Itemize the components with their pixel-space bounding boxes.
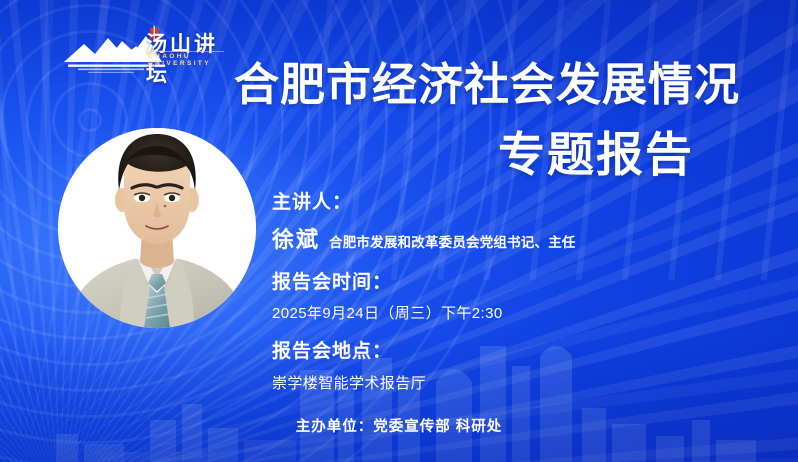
speaker-role: 合肥市发展和改革委员会党组书记、主任 (329, 231, 576, 251)
speaker-portrait-image (58, 128, 256, 328)
event-details: 主讲人： 徐斌 合肥市发展和改革委员会党组书记、主任 报告会时间： 2025年9… (272, 190, 772, 393)
logo-divider (146, 51, 224, 52)
place-label: 报告会地点： (272, 339, 772, 365)
time-label: 报告会时间： (272, 270, 772, 296)
place-value: 崇学楼智能学术报告厅 (272, 372, 772, 393)
speaker-label: 主讲人： (272, 190, 772, 216)
event-poster: 汤山讲坛 CHAOHU UNIVERSITY (0, 0, 798, 462)
poster-title-line-2: 专题报告 (498, 131, 778, 178)
chaohu-university-logo: 汤山讲坛 CHAOHU UNIVERSITY (62, 22, 232, 78)
time-value: 2025年9月24日（周三）下午2:30 (272, 302, 772, 323)
spacer-1 (272, 254, 772, 270)
spacer-2 (272, 323, 772, 339)
speaker-row: 徐斌 合肥市发展和改革委员会党组书记、主任 (272, 222, 772, 254)
poster-title-line-1: 合肥市经济社会发展情况 (234, 62, 774, 107)
logo-english-name: CHAOHU UNIVERSITY (148, 53, 232, 67)
organizer-footer: 主办单位：党委宣传部 科研处 (0, 415, 798, 436)
speaker-name: 徐斌 (272, 222, 320, 254)
speaker-portrait (58, 128, 256, 328)
